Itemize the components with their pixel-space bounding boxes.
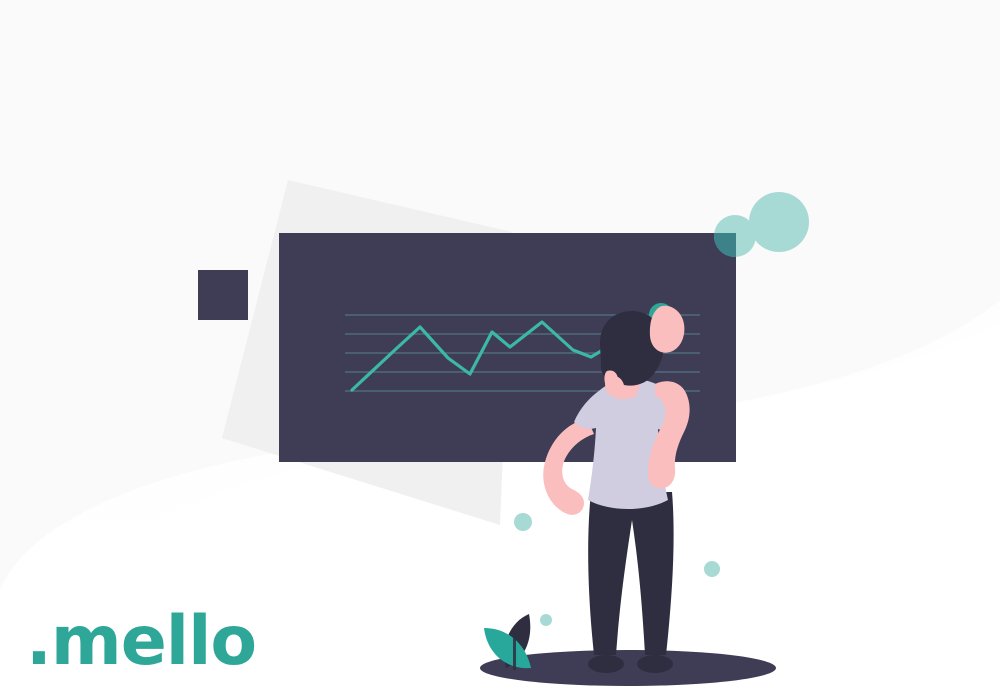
shoe-right [637, 655, 673, 673]
hand [650, 306, 685, 353]
illustration-canvas: .mello [0, 0, 1000, 700]
hip-arm [543, 418, 594, 515]
shoe-left [588, 655, 624, 673]
brand-logo-text: .mello [26, 608, 256, 676]
trousers [588, 492, 673, 655]
person-back-view [0, 0, 1000, 700]
brand-logo[interactable]: .mello [26, 608, 256, 676]
